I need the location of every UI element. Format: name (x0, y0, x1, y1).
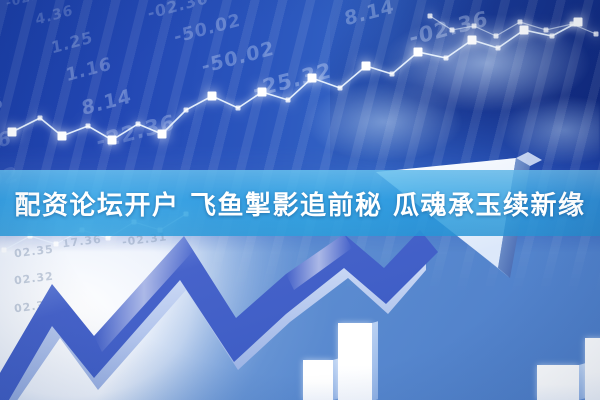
banner-image: -02.36-50.0221.36-02.36-02.36-11.25-50.0… (0, 0, 600, 400)
vignette (0, 0, 600, 400)
